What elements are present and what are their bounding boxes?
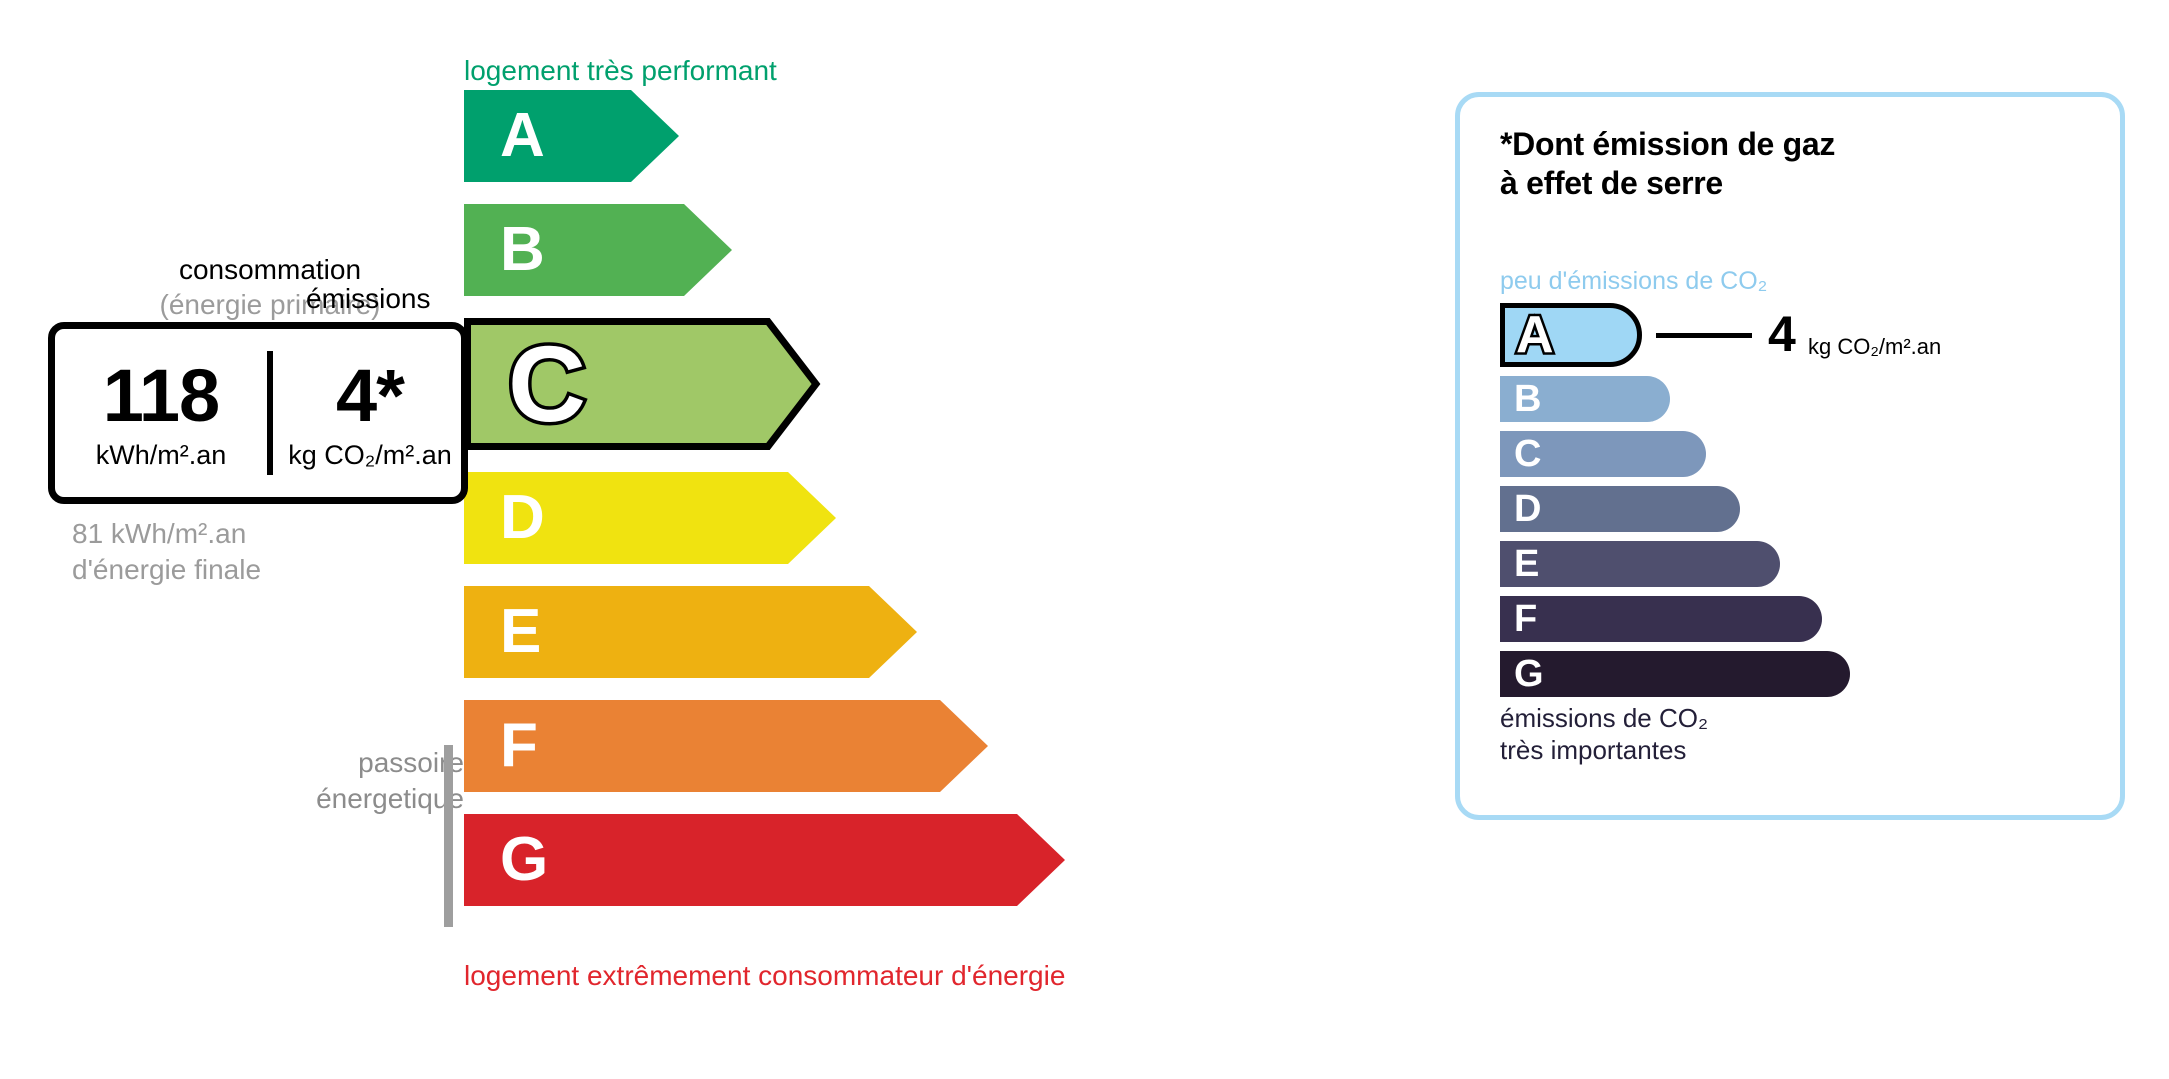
co2-class-letter-b: B [1514, 380, 1541, 418]
co2-class-row-g: G [1500, 651, 1850, 697]
co2-class-letter-d: D [1514, 490, 1541, 528]
co2-title-line1: *Dont émission de gaz [1500, 126, 1835, 162]
co2-value: 4 [1768, 309, 1796, 359]
consumption-value-cell: 118 kWh/m².an [55, 329, 267, 497]
energy-arrow-d: D [464, 472, 846, 564]
energy-class-row-d: D [464, 472, 846, 564]
co2-leader-line [1656, 333, 1752, 338]
dpe-energy-scale: logement très performant ABCDEFG 118 kWh… [0, 0, 1400, 1079]
emission-value-cell: 4* kg CO₂/m².an [273, 329, 467, 497]
co2-class-letter-f: F [1514, 600, 1537, 638]
co2-panel: *Dont émission de gaz à effet de serre p… [1455, 92, 2125, 820]
consumption-unit: kWh/m².an [96, 440, 227, 471]
co2-bottom-caption-line2: très importantes [1500, 735, 1686, 765]
passoire-bracket [444, 745, 453, 927]
co2-bottom-caption-line1: émissions de CO₂ [1500, 703, 1708, 733]
co2-class-row-b: B [1500, 376, 1670, 422]
final-energy-note-line2: d'énergie finale [72, 554, 261, 585]
passoire-line2: énergetique [316, 783, 464, 814]
consumption-value: 118 [103, 361, 219, 431]
co2-class-rows: A4kg CO₂/m².anBCDEFG [1500, 303, 2100, 703]
energy-arrow-f: F [464, 700, 998, 792]
co2-bar-f [1500, 596, 1822, 642]
co2-class-row-e: E [1500, 541, 1780, 587]
final-energy-note-line1: 81 kWh/m².an [72, 518, 246, 549]
co2-bar-e [1500, 541, 1780, 587]
energy-arrow-c: C [464, 318, 826, 450]
co2-class-letter-c: C [1514, 435, 1541, 473]
energy-class-letter-c: C [508, 330, 586, 438]
energy-class-row-b: B [464, 204, 742, 296]
energy-bottom-caption: logement extrêmement consommateur d'éner… [464, 960, 1065, 992]
co2-bottom-caption: émissions de CO₂ très importantes [1500, 702, 1708, 766]
emission-unit: kg CO₂/m².an [288, 440, 452, 471]
energy-value-box: 118 kWh/m².an 4* kg CO₂/m².an [48, 322, 468, 504]
energy-class-letter-g: G [500, 829, 548, 891]
co2-class-letter-g: G [1514, 655, 1544, 693]
energy-arrow-a: A [464, 90, 689, 182]
consumption-label-main: consommation [179, 254, 361, 285]
co2-class-letter-e: E [1514, 545, 1539, 583]
energy-class-row-a: A [464, 90, 689, 182]
energy-class-row-f: F [464, 700, 998, 792]
co2-bar-g [1500, 651, 1850, 697]
emissions-label: émissions [306, 283, 430, 315]
passoire-energetique-label: passoire énergetique [280, 745, 464, 817]
energy-class-letter-f: F [500, 715, 538, 777]
energy-class-row-c: C [464, 318, 826, 450]
energy-class-row-g: G [464, 814, 1075, 906]
co2-panel-title: *Dont émission de gaz à effet de serre [1500, 125, 1835, 203]
co2-value-unit: kg CO₂/m².an [1808, 336, 1941, 358]
co2-title-line2: à effet de serre [1500, 165, 1723, 201]
energy-class-letter-d: D [500, 487, 545, 549]
emission-value: 4* [336, 361, 404, 431]
energy-arrow-e: E [464, 586, 927, 678]
energy-arrow-g: G [464, 814, 1075, 906]
energy-class-row-e: E [464, 586, 927, 678]
co2-class-row-f: F [1500, 596, 1822, 642]
co2-top-caption: peu d'émissions de CO₂ [1500, 267, 1767, 296]
energy-class-letter-e: E [500, 601, 541, 663]
co2-class-row-a: A [1500, 303, 1642, 367]
energy-class-letter-b: B [500, 219, 545, 281]
co2-class-row-d: D [1500, 486, 1740, 532]
energy-class-letter-a: A [500, 105, 545, 167]
final-energy-note: 81 kWh/m².an d'énergie finale [72, 516, 261, 588]
energy-arrow-b: B [464, 204, 742, 296]
co2-class-letter-a: A [1516, 309, 1554, 361]
co2-class-row-c: C [1500, 431, 1706, 477]
